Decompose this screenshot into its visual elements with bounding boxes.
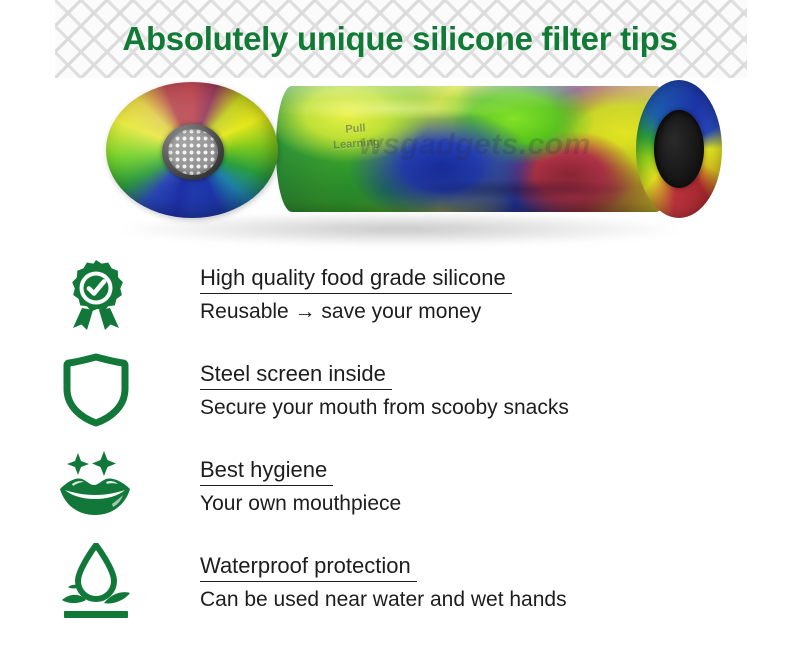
feature-title: High quality food grade silicone bbox=[200, 263, 512, 294]
award-badge-icon bbox=[56, 254, 136, 334]
silicone-end-cap bbox=[106, 82, 278, 218]
feature-subtitle: Secure your mouth from scooby snacks bbox=[200, 394, 569, 421]
header: Absolutely unique silicone filter tips bbox=[0, 0, 800, 78]
feature-title: Steel screen inside bbox=[200, 359, 392, 390]
water-drop-icon bbox=[56, 542, 136, 622]
feature-subtitle: Can be used near water and wet hands bbox=[200, 586, 567, 613]
feature-item: Best hygiene Your own mouthpiece bbox=[0, 438, 800, 534]
feature-text: Best hygiene Your own mouthpiece bbox=[96, 455, 401, 517]
feature-subtitle: Reusable → save your money bbox=[200, 298, 512, 325]
silicone-tube bbox=[276, 86, 672, 212]
steel-screen-ring bbox=[162, 124, 224, 180]
feature-text: High quality food grade silicone Reusabl… bbox=[96, 263, 512, 325]
feature-item: Waterproof protection Can be used near w… bbox=[0, 534, 800, 630]
product-image: Pull Learning wsgadgets.com bbox=[80, 72, 720, 242]
feature-text: Steel screen inside Secure your mouth fr… bbox=[96, 359, 569, 421]
feature-title: Waterproof protection bbox=[200, 551, 417, 582]
page-title: Absolutely unique silicone filter tips bbox=[0, 0, 800, 78]
product-infographic: Absolutely unique silicone filter tips P… bbox=[0, 0, 800, 650]
steel-mesh-screen bbox=[168, 129, 218, 175]
open-tube-mouth bbox=[636, 80, 722, 218]
lips-sparkle-icon bbox=[56, 446, 136, 526]
feature-subtitle: Your own mouthpiece bbox=[200, 490, 401, 517]
feature-item: Steel screen inside Secure your mouth fr… bbox=[0, 342, 800, 438]
feature-title: Best hygiene bbox=[200, 455, 333, 486]
feature-text: Waterproof protection Can be used near w… bbox=[96, 551, 567, 613]
feature-list: High quality food grade silicone Reusabl… bbox=[0, 246, 800, 630]
tube-hollow-interior bbox=[654, 110, 704, 188]
feature-item: High quality food grade silicone Reusabl… bbox=[0, 246, 800, 342]
shield-icon bbox=[56, 350, 136, 430]
